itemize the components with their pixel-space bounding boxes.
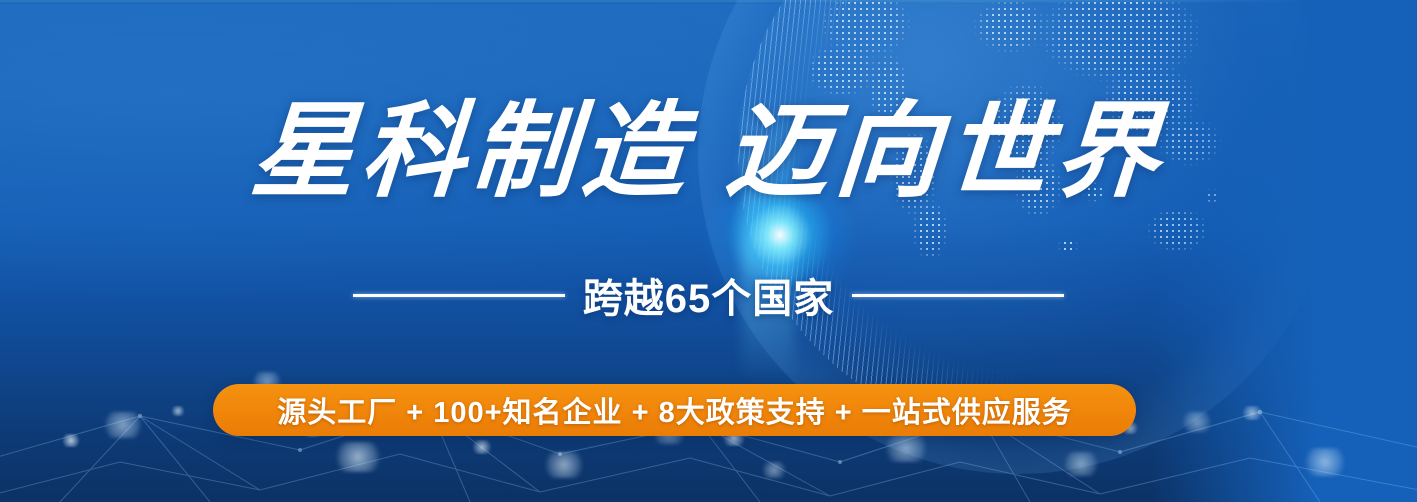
banner-subtitle: 跨越65个国家 xyxy=(583,266,835,324)
banner-title-part-2: 迈向世界 xyxy=(721,89,1170,212)
promo-banner: 星科制造迈向世界 跨越65个国家 源头工厂 + 100+知名企业 + 8大政策支… xyxy=(0,0,1417,502)
highlights-pill[interactable]: 源头工厂 + 100+知名企业 + 8大政策支持 + 一站式供应服务 xyxy=(213,384,1136,436)
subtitle-rule-left xyxy=(353,294,565,297)
banner-title-part-1: 星科制造 xyxy=(247,89,696,212)
banner-title: 星科制造迈向世界 xyxy=(0,96,1417,205)
subtitle-rule-right xyxy=(852,294,1064,297)
highlights-pill-text: 源头工厂 + 100+知名企业 + 8大政策支持 + 一站式供应服务 xyxy=(277,389,1072,431)
banner-subtitle-row: 跨越65个国家 xyxy=(0,266,1417,324)
